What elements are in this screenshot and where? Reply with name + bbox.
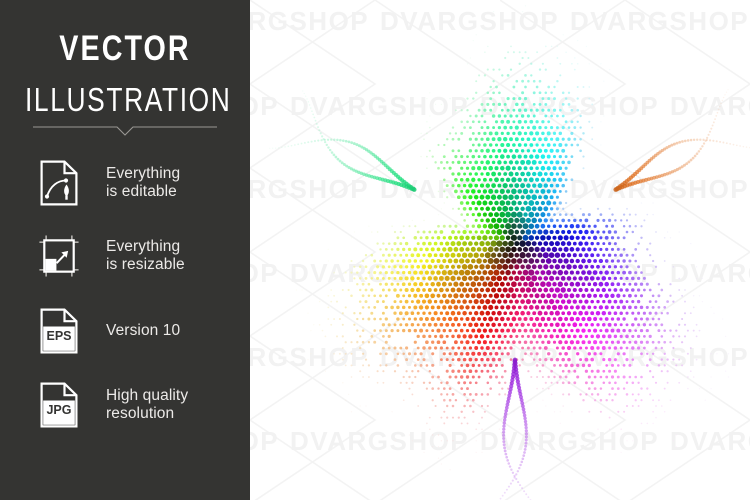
feature-row-editable: Everything is editable xyxy=(38,159,238,207)
page-subtitle: ILLUSTRATION xyxy=(25,82,225,118)
info-panel: VECTOR ILLUSTRATION Everything is edita xyxy=(0,0,250,500)
page-title: VECTOR xyxy=(23,29,228,69)
artwork-area: DVARGSHOP DVARGSHOP DVARGSHOP DVARGSHOP … xyxy=(250,0,750,500)
eps-file-icon: EPS xyxy=(38,308,80,354)
halftone-color-burst xyxy=(250,0,750,500)
jpg-icon-text: JPG xyxy=(46,403,71,417)
feature-label: High quality resolution xyxy=(106,387,188,423)
feature-row-resizable: Everything is resizable xyxy=(38,232,238,280)
chevron-divider xyxy=(33,125,217,137)
resize-arrow-icon xyxy=(38,233,80,279)
feature-label: Everything is resizable xyxy=(106,238,185,274)
feature-row-jpg: JPG High quality resolution xyxy=(38,381,238,429)
feature-row-eps: EPS Version 10 xyxy=(38,307,238,355)
feature-label: Everything is editable xyxy=(106,165,180,201)
document-pen-icon xyxy=(38,160,80,206)
eps-icon-text: EPS xyxy=(46,329,71,343)
jpg-file-icon: JPG xyxy=(38,382,80,428)
feature-label: Version 10 xyxy=(106,322,180,340)
poster-stage: DVARGSHOP DVARGSHOP DVARGSHOP DVARGSHOP … xyxy=(0,0,750,500)
